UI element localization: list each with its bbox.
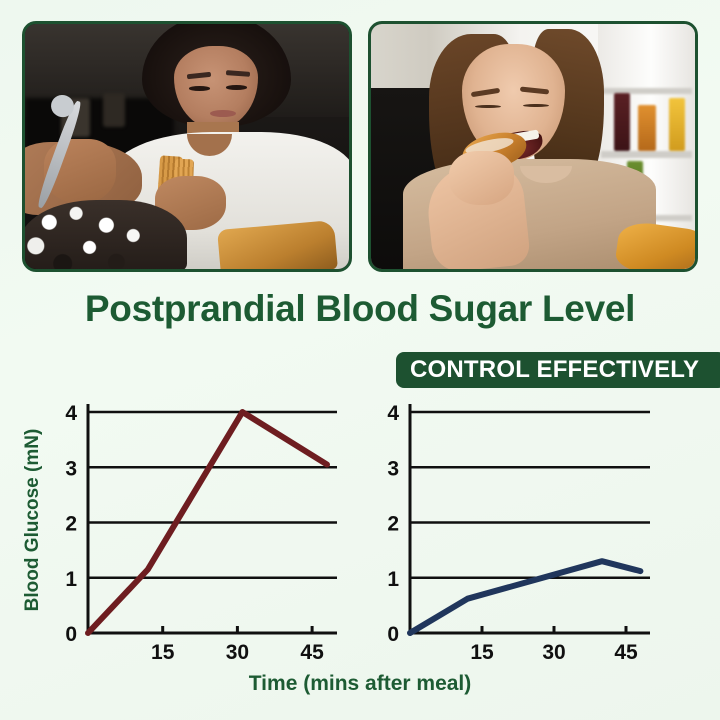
x-tick-label: 45 (614, 641, 638, 662)
poster-root: Postprandial Blood Sugar Level CONTROL E… (0, 0, 720, 720)
y-tick-label: 0 (65, 623, 77, 646)
x-tick-label: 15 (470, 641, 494, 662)
photo-card-woman-eating-cake (22, 21, 352, 272)
y-tick-label: 3 (65, 457, 77, 480)
y-tick-label: 3 (387, 457, 399, 480)
photo-card-woman-eating-donut (368, 21, 698, 272)
y-tick-label: 1 (65, 568, 77, 591)
y-tick-label: 2 (65, 513, 77, 536)
photo-row (0, 0, 720, 285)
y-tick-label: 4 (65, 402, 77, 425)
y-tick-label: 4 (387, 402, 399, 425)
x-tick-label: 45 (300, 641, 324, 662)
chart-after: 01234153045 (360, 392, 720, 662)
y-tick-label: 2 (387, 513, 399, 536)
x-axis-label: Time (mins after meal) (0, 672, 720, 696)
chart-before: Blood Glucose (mN) 01234153045 (0, 392, 360, 662)
y-tick-label: 1 (387, 568, 399, 591)
chart-before-plot: 01234153045 (0, 392, 360, 662)
photo-woman-eating-donut (371, 24, 695, 269)
x-tick-label: 15 (151, 641, 175, 662)
x-tick-label: 30 (226, 641, 249, 662)
x-tick-label: 30 (542, 641, 565, 662)
photo-woman-eating-cake (25, 24, 349, 269)
data-line-after (410, 561, 640, 633)
page-title: Postprandial Blood Sugar Level (0, 288, 720, 330)
status-badge: CONTROL EFFECTIVELY (396, 352, 720, 388)
chart-after-plot: 01234153045 (360, 392, 720, 662)
status-badge-label: CONTROL EFFECTIVELY (410, 356, 699, 384)
y-tick-label: 0 (387, 623, 399, 646)
charts-area: Blood Glucose (mN) 01234153045 012341530… (0, 392, 720, 662)
